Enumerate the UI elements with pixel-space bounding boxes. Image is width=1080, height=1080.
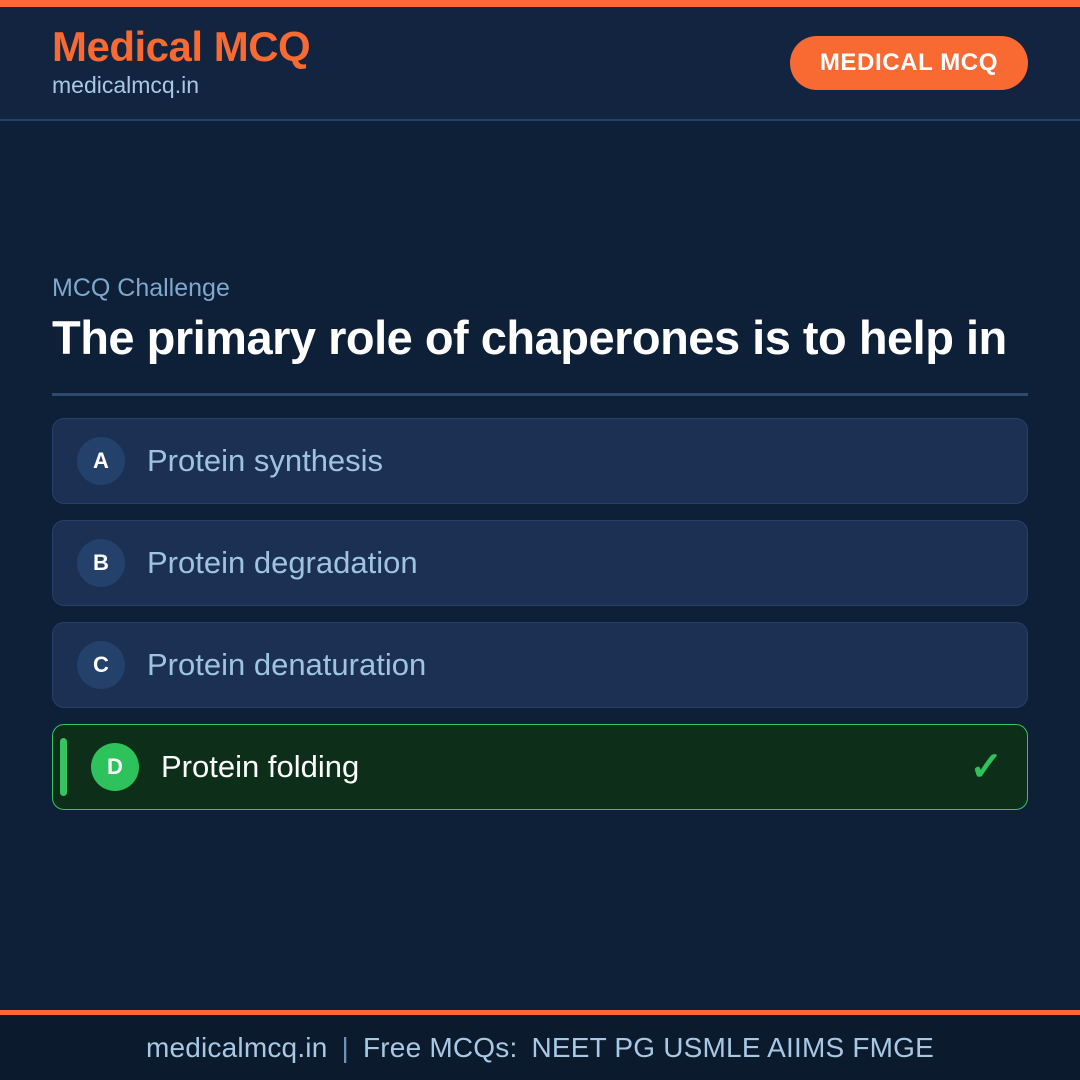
option-letter-c: C — [77, 641, 125, 689]
top-accent-bar — [0, 0, 1080, 7]
option-text-d: Protein folding — [161, 748, 953, 785]
option-text-a: Protein synthesis — [147, 442, 1003, 479]
mcq-card: Medical MCQ medicalmcq.in MEDICAL MCQ MC… — [0, 0, 1080, 1080]
brand-title: Medical MCQ — [52, 25, 310, 69]
header: Medical MCQ medicalmcq.in MEDICAL MCQ — [0, 7, 1080, 121]
footer: medicalmcq.in|Free MCQs:NEET PG USMLE AI… — [0, 1010, 1080, 1080]
footer-separator: | — [328, 1032, 363, 1063]
option-letter-d: D — [91, 743, 139, 791]
options-list: A Protein synthesis B Protein degradatio… — [52, 418, 1028, 810]
main-content: MCQ Challenge The primary role of chaper… — [0, 121, 1080, 1010]
brand: Medical MCQ medicalmcq.in — [52, 25, 310, 101]
option-text-b: Protein degradation — [147, 544, 1003, 581]
option-d[interactable]: D Protein folding ✓ — [52, 724, 1028, 810]
option-text-c: Protein denaturation — [147, 646, 1003, 683]
brand-subtitle: medicalmcq.in — [52, 71, 310, 101]
option-a[interactable]: A Protein synthesis — [52, 418, 1028, 504]
footer-text: medicalmcq.in|Free MCQs:NEET PG USMLE AI… — [146, 1032, 934, 1064]
question-divider — [52, 393, 1028, 396]
option-letter-b: B — [77, 539, 125, 587]
footer-exams-label: Free MCQs: — [363, 1032, 517, 1063]
option-b[interactable]: B Protein degradation — [52, 520, 1028, 606]
option-c[interactable]: C Protein denaturation — [52, 622, 1028, 708]
footer-site: medicalmcq.in — [146, 1032, 328, 1063]
kicker-label: MCQ Challenge — [52, 273, 1028, 303]
correct-accent-bar — [60, 738, 67, 796]
question-text: The primary role of chaperones is to hel… — [52, 311, 1028, 364]
header-badge: MEDICAL MCQ — [790, 36, 1028, 90]
option-letter-a: A — [77, 437, 125, 485]
check-icon-d: ✓ — [969, 747, 1003, 787]
footer-exams: NEET PG USMLE AIIMS FMGE — [531, 1032, 934, 1063]
